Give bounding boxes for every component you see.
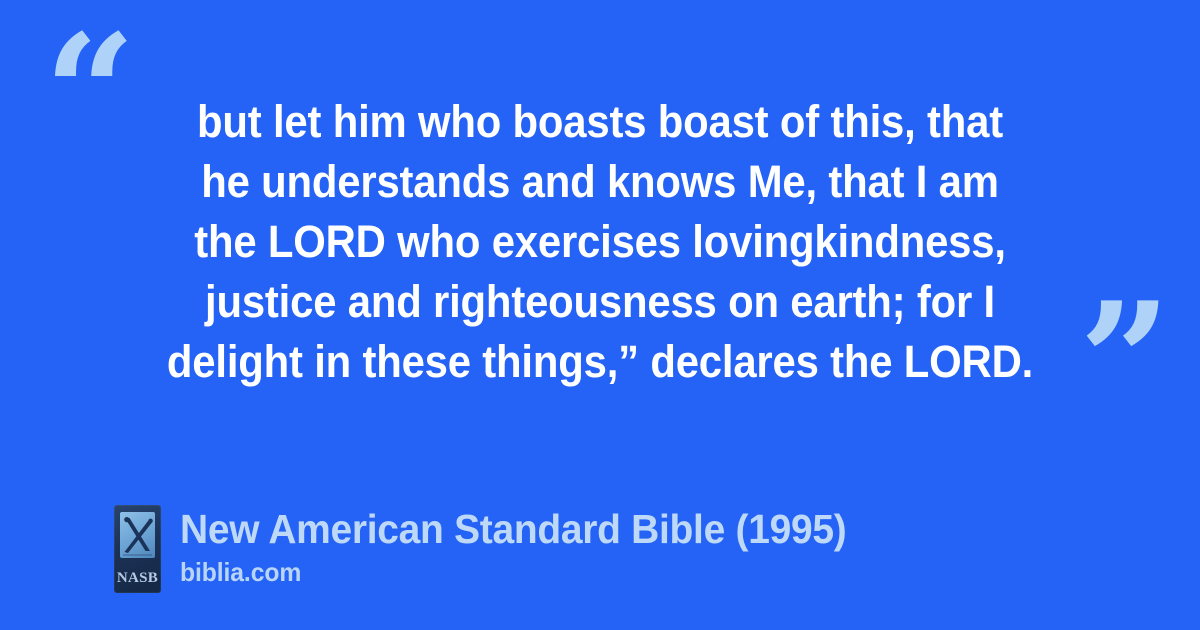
quote-text-block: but let him who boasts boast of this, th… — [0, 92, 1200, 392]
nasb-wordmark: NASB — [114, 571, 161, 586]
quote-line: the LORD who exercises lovingkindness, — [42, 212, 1158, 272]
attribution-text: New American Standard Bible (1995) bibli… — [180, 505, 881, 587]
translation-title: New American Standard Bible (1995) — [180, 506, 846, 553]
nasb-logo: NASB — [114, 505, 161, 593]
quote-line: delight in these things,” declares the L… — [42, 332, 1158, 392]
closing-quote-icon: ” — [1079, 281, 1171, 441]
nasb-emblem-icon — [120, 512, 155, 558]
site-url[interactable]: biblia.com — [180, 557, 846, 587]
quote-line: he understands and knows Me, that I am — [42, 152, 1158, 212]
verse-share-card: “ but let him who boasts boast of this, … — [0, 0, 1200, 630]
attribution: NASB New American Standard Bible (1995) … — [114, 505, 881, 593]
quote-line: justice and righteousness on earth; for … — [42, 272, 1158, 332]
quote-line: but let him who boasts boast of this, th… — [42, 92, 1158, 152]
